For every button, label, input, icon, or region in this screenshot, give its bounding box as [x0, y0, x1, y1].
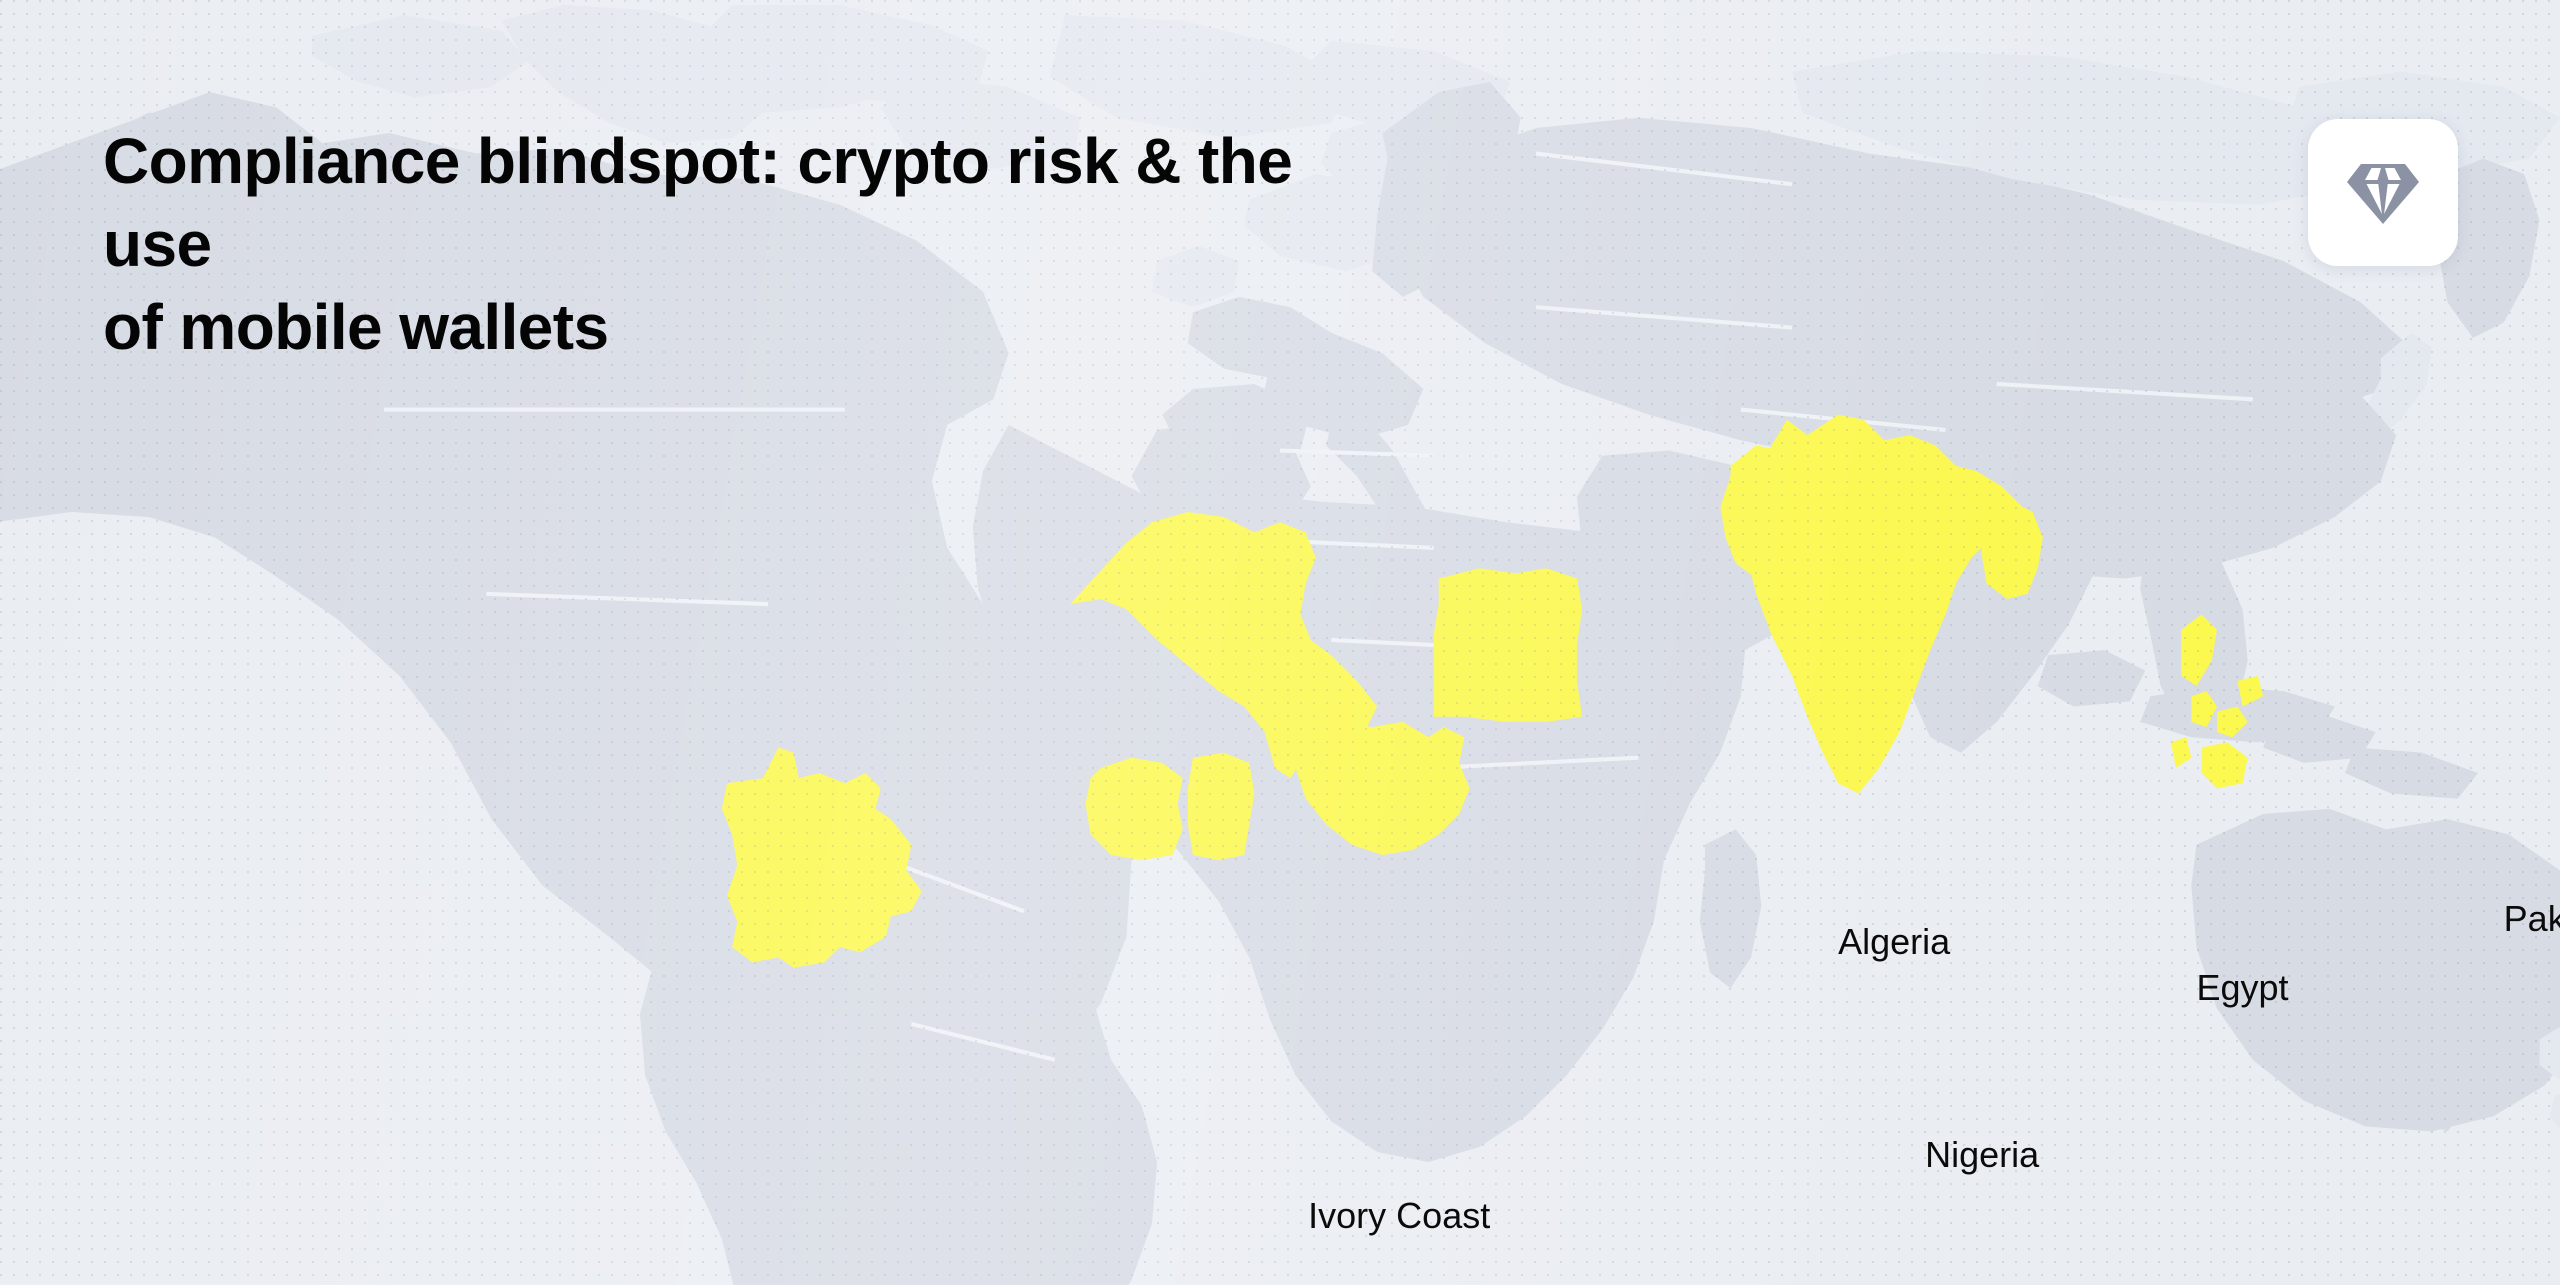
country-label-nigeria: Nigeria	[1925, 1137, 2039, 1173]
page-title: Compliance blindspot: crypto risk & the …	[103, 120, 1403, 369]
country-label-egypt: Egypt	[2196, 970, 2288, 1006]
country-egypt[interactable]	[1434, 568, 1582, 722]
country-label-ivory-coast: Ivory Coast	[1308, 1198, 1490, 1234]
country-label-pakistan: Pakistan	[2504, 901, 2560, 937]
slide-canvas: Compliance blindspot: crypto risk & the …	[0, 0, 2560, 1285]
diamond-icon	[2346, 158, 2420, 228]
brand-logo-badge[interactable]	[2308, 119, 2458, 266]
country-label-algeria: Algeria	[1838, 924, 1950, 960]
country-ghana[interactable]	[1188, 753, 1255, 861]
